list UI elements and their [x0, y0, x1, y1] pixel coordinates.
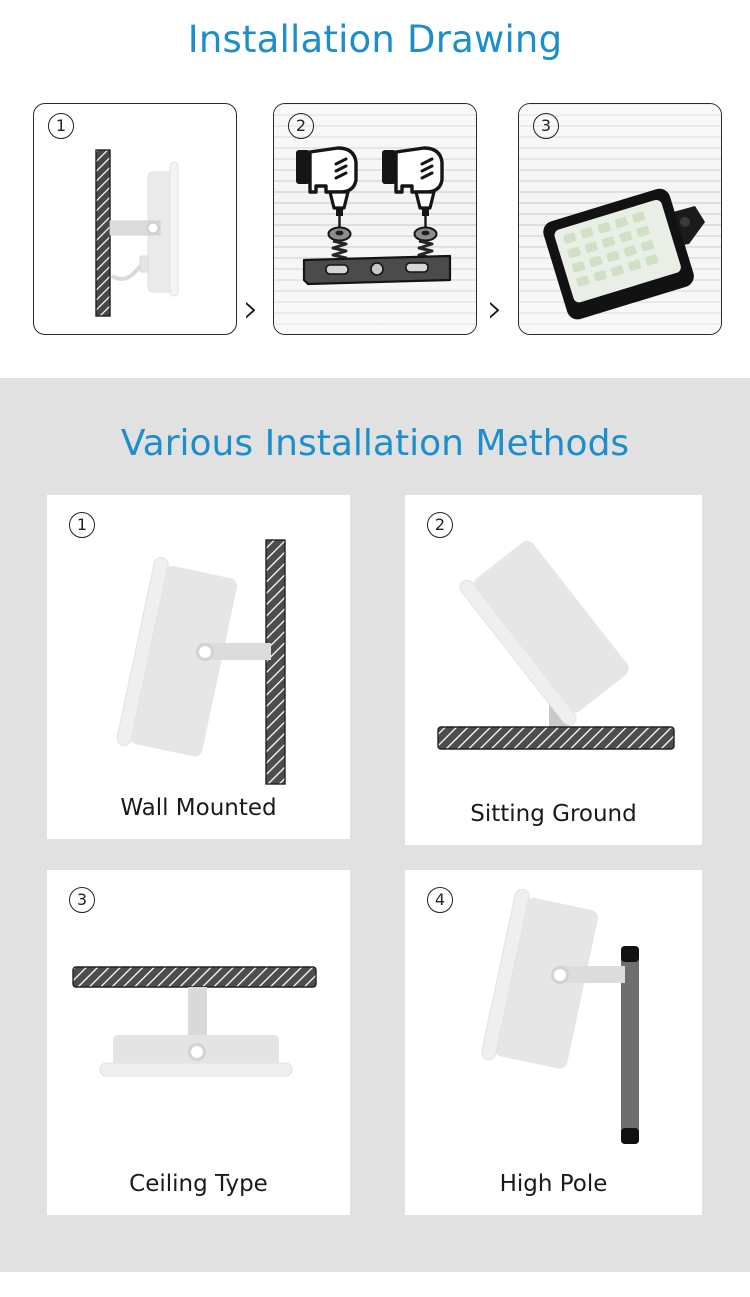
- page-title: Installation Drawing: [0, 18, 750, 61]
- step-3-illustration: [519, 104, 722, 335]
- step-card-2: 2: [273, 103, 477, 335]
- method-label-high-pole: High Pole: [405, 1171, 702, 1197]
- section-title: Various Installation Methods: [0, 423, 750, 464]
- ceiling-type-illustration: [47, 870, 350, 1215]
- step-number-1: 1: [48, 113, 74, 139]
- installation-drawing-section: Installation Drawing 1: [0, 0, 750, 378]
- step-1-illustration: [34, 104, 237, 335]
- high-pole-illustration: [405, 870, 702, 1215]
- step-arrow-2-icon: ›: [487, 289, 503, 329]
- method-label-ceiling-type: Ceiling Type: [47, 1171, 350, 1197]
- step-number-3: 3: [533, 113, 559, 139]
- step-2-illustration: [274, 104, 477, 335]
- installation-methods-section: Various Installation Methods 1: [0, 378, 750, 1272]
- step-number-2: 2: [288, 113, 314, 139]
- method-card-high-pole: 4 High Pole: [405, 870, 702, 1215]
- method-card-ceiling-type: 3 Ceiling Type: [47, 870, 350, 1215]
- method-card-wall-mounted: 1 Wall Mounted: [47, 495, 350, 839]
- step-card-1: 1: [33, 103, 237, 335]
- infographic-page: Installation Drawing 1: [0, 0, 750, 1297]
- method-label-sitting-ground: Sitting Ground: [405, 801, 702, 827]
- method-card-sitting-ground: 2 Sitting Ground: [405, 495, 702, 845]
- sitting-ground-illustration: [405, 495, 702, 845]
- step-arrow-1-icon: ›: [243, 289, 259, 329]
- step-card-3: 3: [518, 103, 722, 335]
- steps-row: 1: [0, 103, 750, 338]
- wall-mounted-illustration: [47, 495, 350, 839]
- method-label-wall-mounted: Wall Mounted: [47, 795, 350, 821]
